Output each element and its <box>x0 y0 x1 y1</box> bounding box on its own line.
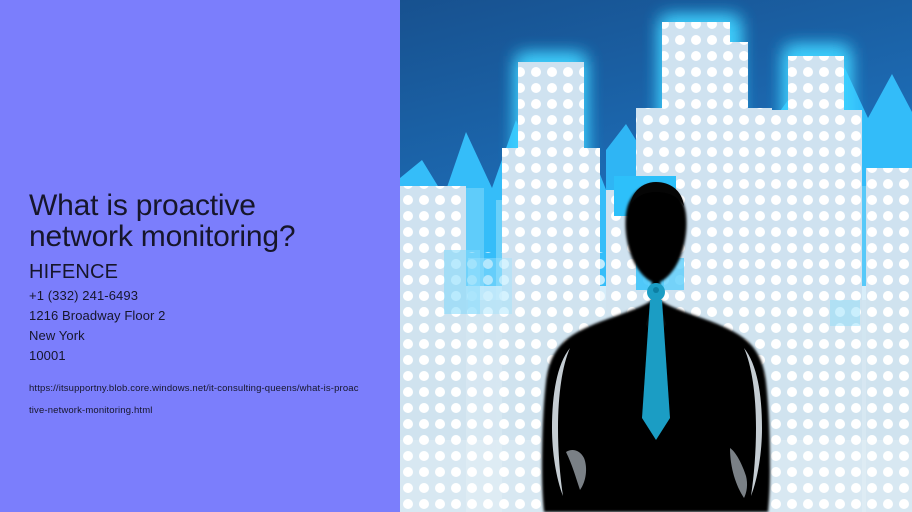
contact-address: 1216 Broadway Floor 2 <box>29 306 374 326</box>
left-text-panel: What is proactive network monitoring? HI… <box>0 0 400 512</box>
slide-canvas: What is proactive network monitoring? HI… <box>0 0 912 512</box>
source-url[interactable]: https://itsupportny.blob.core.windows.ne… <box>29 378 359 422</box>
hero-image-panel <box>400 0 912 512</box>
tie-knot-hole <box>653 287 659 293</box>
city-businessman-illustration <box>400 0 912 512</box>
contact-phone: +1 (332) 241-6493 <box>29 286 374 306</box>
content-block: What is proactive network monitoring? HI… <box>29 190 374 422</box>
page-title: What is proactive network monitoring? <box>29 190 374 252</box>
contact-zip: 10001 <box>29 346 374 366</box>
contact-city: New York <box>29 326 374 346</box>
brand-name: HIFENCE <box>29 261 374 283</box>
